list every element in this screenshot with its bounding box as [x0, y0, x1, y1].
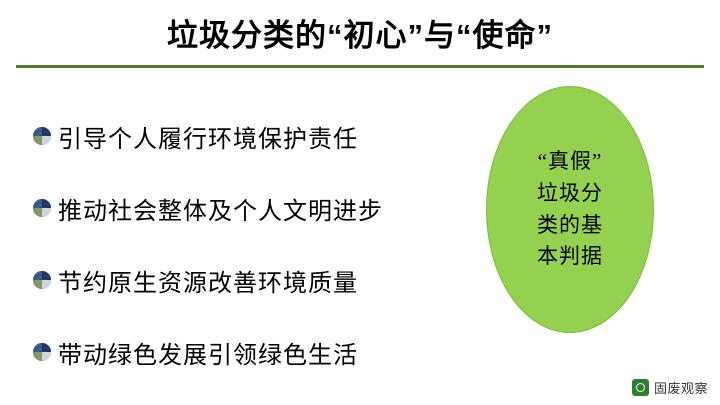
- callout-line: 类的基: [537, 210, 603, 242]
- sphere-bullet-icon: [32, 126, 52, 146]
- list-item-label: 节约原生资源改善环境质量: [58, 263, 358, 298]
- list-item-label: 带动绿色发展引领绿色生活: [58, 335, 358, 370]
- list-item-label: 引导个人履行环境保护责任: [58, 119, 358, 154]
- list-item: 推动社会整体及个人文明进步: [32, 172, 452, 244]
- bullet-list: 引导个人履行环境保护责任 推动社会整体及个人文明进步: [32, 100, 452, 388]
- sphere-bullet-icon: [32, 270, 52, 290]
- list-item: 引导个人履行环境保护责任: [32, 100, 452, 172]
- sphere-bullet-icon: [32, 342, 52, 362]
- list-item-label: 推动社会整体及个人文明进步: [58, 191, 383, 226]
- list-item: 带动绿色发展引领绿色生活: [32, 316, 452, 388]
- callout-ellipse: “真假” 垃圾分 类的基 本判据: [486, 86, 654, 333]
- sphere-bullet-icon: [32, 198, 52, 218]
- title-divider: [16, 65, 704, 68]
- callout-line: 垃圾分: [537, 178, 603, 210]
- watermark: 固废观察: [632, 378, 708, 397]
- page-title: 垃圾分类的“初心”与“使命”: [0, 10, 720, 55]
- watermark-label: 固废观察: [654, 378, 708, 397]
- slide-canvas: 垃圾分类的“初心”与“使命” 引导个人履行环境保护责任: [0, 0, 720, 405]
- list-item: 节约原生资源改善环境质量: [32, 244, 452, 316]
- callout-line: 本判据: [537, 241, 603, 273]
- camera-logo-icon: [632, 379, 649, 396]
- callout-line: “真假”: [538, 146, 603, 178]
